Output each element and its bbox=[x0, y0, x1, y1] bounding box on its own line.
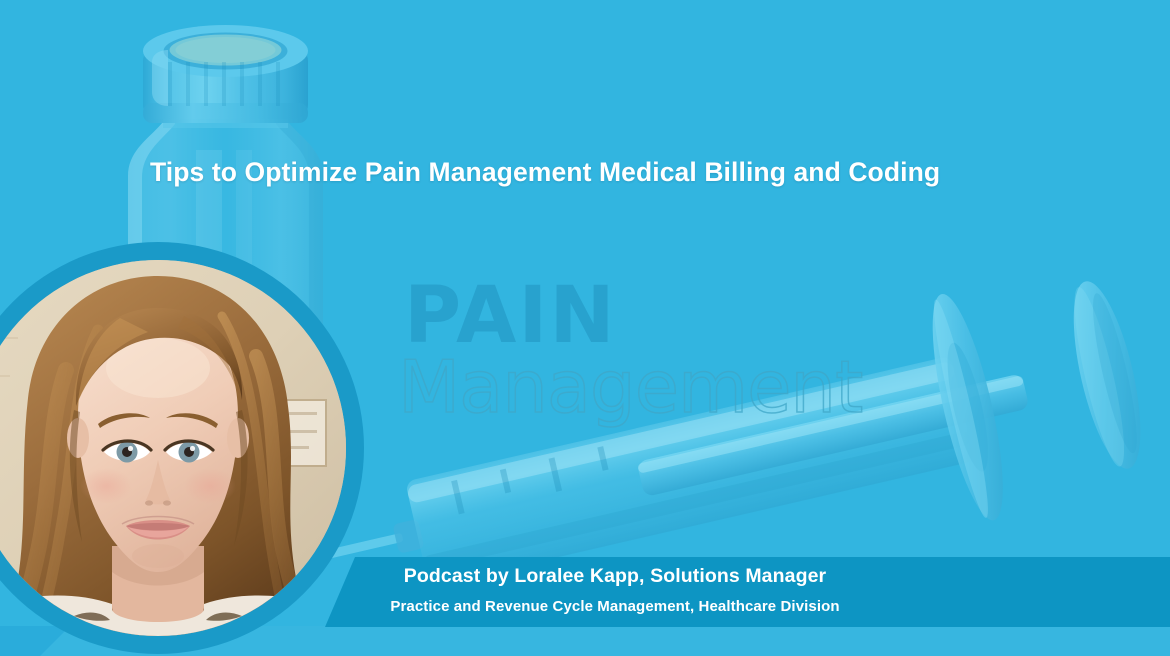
slide-canvas: PAIN Management Tips to Optimize Pain Ma… bbox=[0, 0, 1170, 656]
page-title: Tips to Optimize Pain Management Medical… bbox=[150, 157, 1050, 188]
watermark-pain: PAIN bbox=[404, 277, 617, 355]
watermark-management: Management bbox=[398, 351, 862, 423]
